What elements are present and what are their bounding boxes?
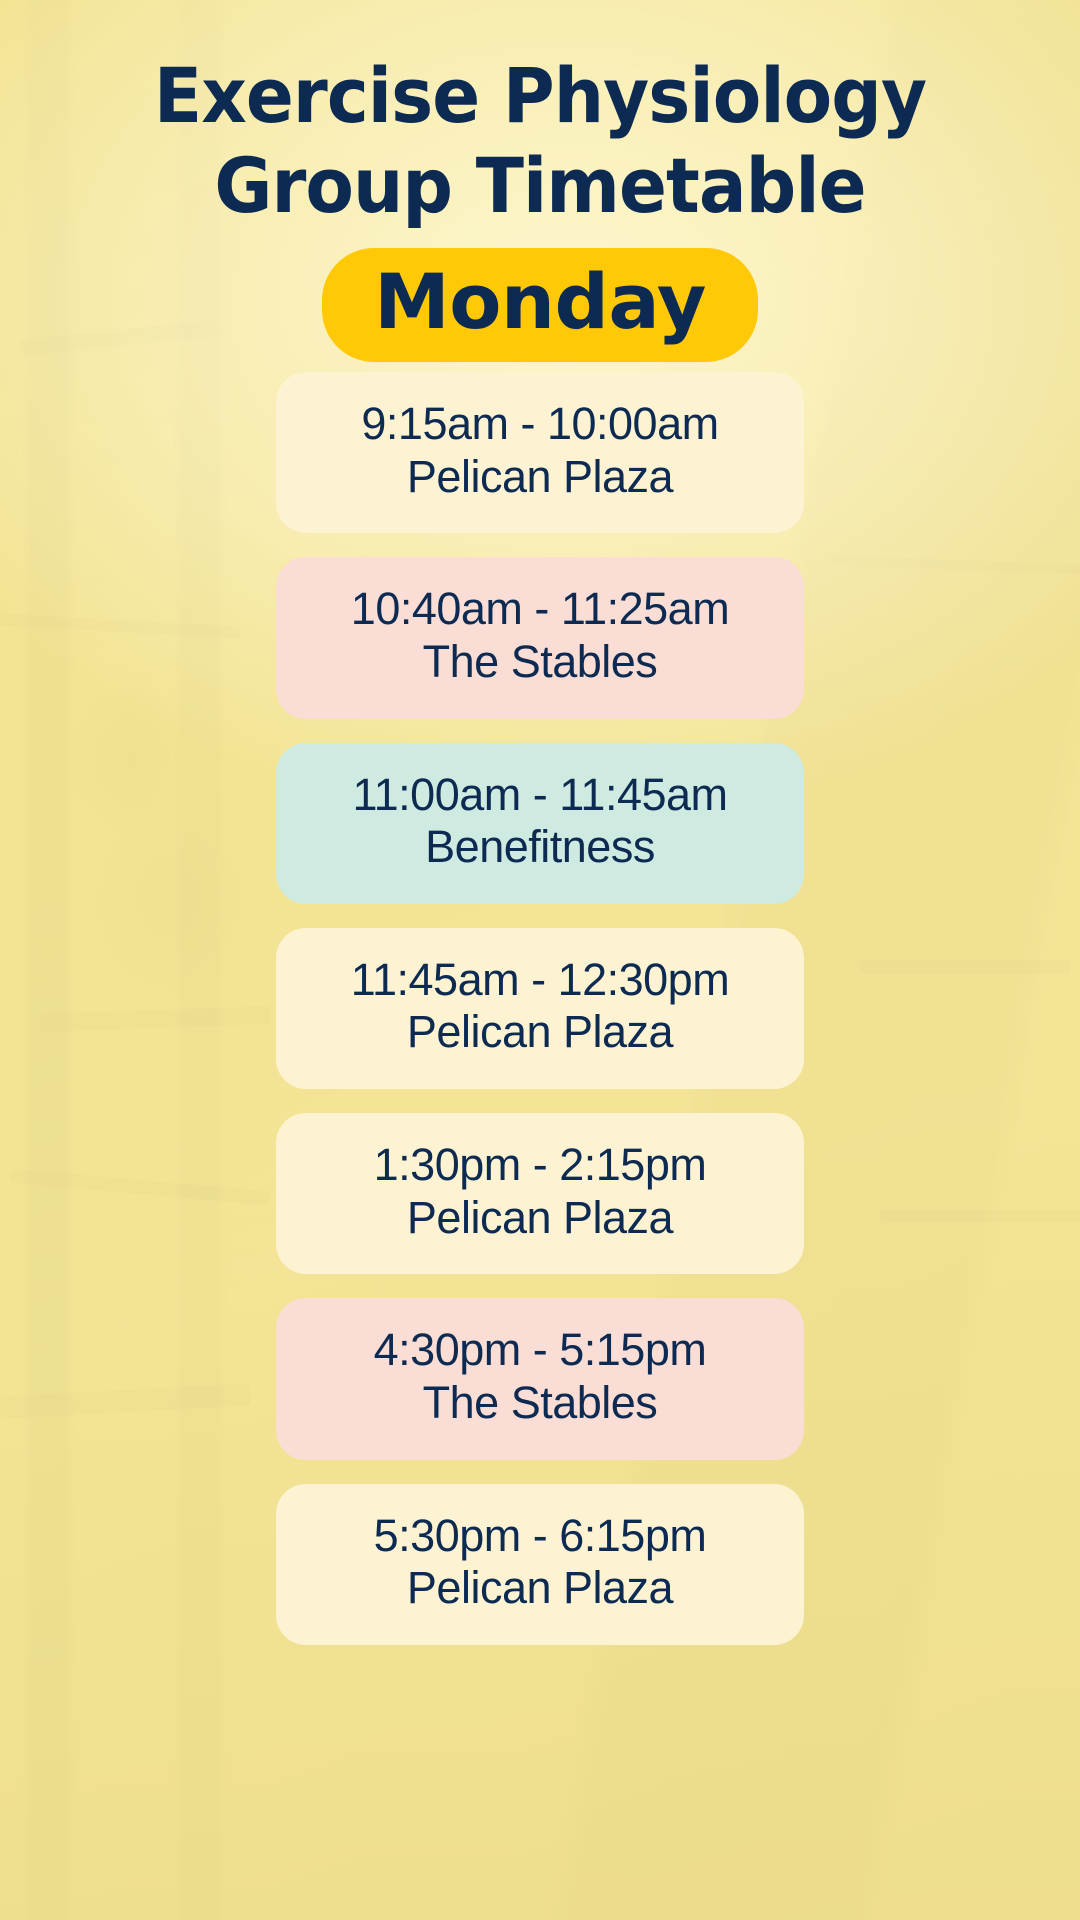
session-time: 10:40am - 11:25am <box>298 583 782 636</box>
timetable-poster: Exercise Physiology Group Timetable Mond… <box>0 0 1080 1920</box>
session-location: Pelican Plaza <box>298 1006 782 1059</box>
session-location: Pelican Plaza <box>298 451 782 504</box>
session-time: 1:30pm - 2:15pm <box>298 1139 782 1192</box>
session-card[interactable]: 9:15am - 10:00amPelican Plaza <box>276 372 804 533</box>
session-time: 9:15am - 10:00am <box>298 398 782 451</box>
session-location: Benefitness <box>298 821 782 874</box>
session-card[interactable]: 4:30pm - 5:15pmThe Stables <box>276 1298 804 1459</box>
page-title-line-1: Exercise Physiology <box>38 58 1042 134</box>
session-card[interactable]: 11:00am - 11:45amBenefitness <box>276 743 804 904</box>
session-card[interactable]: 1:30pm - 2:15pmPelican Plaza <box>276 1113 804 1274</box>
session-time: 11:45am - 12:30pm <box>298 954 782 1007</box>
day-badge-container: Monday <box>0 248 1080 362</box>
session-time: 11:00am - 11:45am <box>298 769 782 822</box>
day-badge-monday[interactable]: Monday <box>322 248 758 362</box>
session-location: Pelican Plaza <box>298 1562 782 1615</box>
session-location: The Stables <box>298 636 782 689</box>
page-title: Exercise Physiology Group Timetable <box>38 58 1042 224</box>
page-title-line-2: Group Timetable <box>38 148 1042 224</box>
session-card[interactable]: 11:45am - 12:30pmPelican Plaza <box>276 928 804 1089</box>
session-card[interactable]: 10:40am - 11:25amThe Stables <box>276 557 804 718</box>
session-card[interactable]: 5:30pm - 6:15pmPelican Plaza <box>276 1484 804 1645</box>
session-list: 9:15am - 10:00amPelican Plaza10:40am - 1… <box>0 372 1080 1645</box>
session-time: 5:30pm - 6:15pm <box>298 1510 782 1563</box>
session-location: Pelican Plaza <box>298 1192 782 1245</box>
session-time: 4:30pm - 5:15pm <box>298 1324 782 1377</box>
session-location: The Stables <box>298 1377 782 1430</box>
